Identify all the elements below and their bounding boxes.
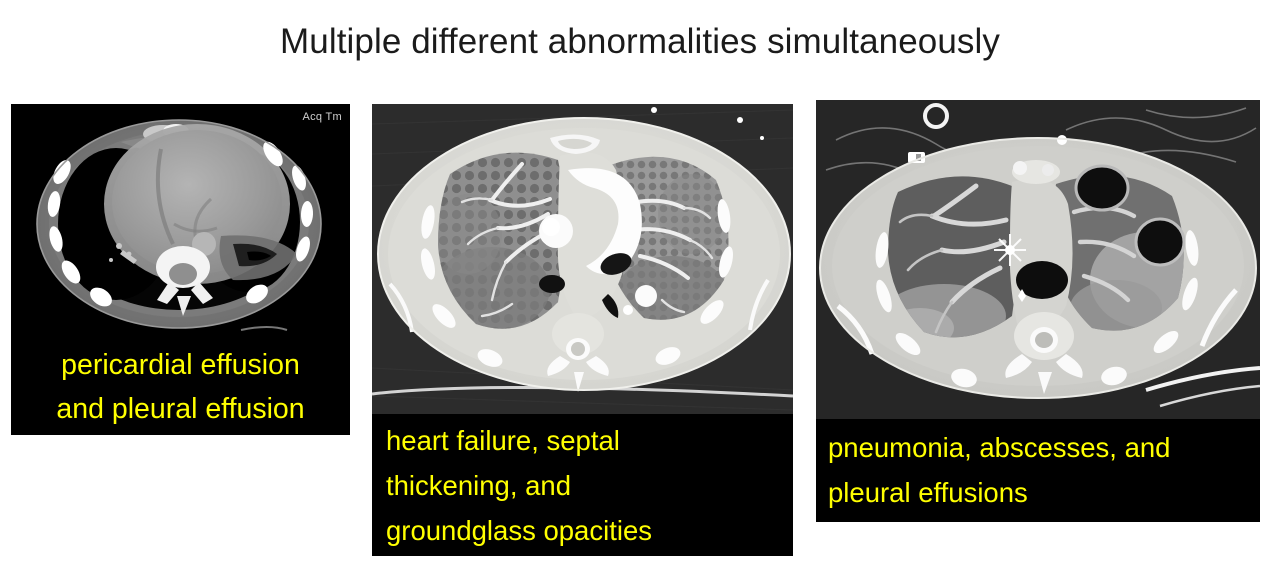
slide: Multiple different abnormalities simulta… xyxy=(0,0,1280,576)
caption-line: groundglass opacities xyxy=(386,508,793,553)
ct-image-mediastinal-window: Acq Tm xyxy=(11,104,350,340)
caption-line: and pleural effusion xyxy=(11,387,350,431)
caption-line: pericardial effusion xyxy=(11,343,350,387)
panel-caption: pneumonia, abscesses, and pleural effusi… xyxy=(816,419,1260,522)
acquisition-time-label: Acq Tm xyxy=(303,111,343,123)
caption-line: pleural effusions xyxy=(828,470,1260,515)
caption-line: heart failure, septal xyxy=(386,418,793,463)
page-title: Multiple different abnormalities simulta… xyxy=(0,22,1280,62)
caption-line: pneumonia, abscesses, and xyxy=(828,425,1260,470)
ct-panel-heart-failure[interactable]: heart failure, septal thickening, and gr… xyxy=(372,104,793,556)
panel-caption: heart failure, septal thickening, and gr… xyxy=(372,414,793,556)
ct-panel-pneumonia-abscesses[interactable]: pneumonia, abscesses, and pleural effusi… xyxy=(816,100,1260,522)
ct-image-lung-window-septal xyxy=(372,104,793,414)
caption-line: thickening, and xyxy=(386,463,793,508)
panel-caption: pericardial effusion and pleural effusio… xyxy=(11,340,350,435)
ct-image-lung-window-abscess xyxy=(816,100,1260,419)
ct-panel-pericardial-effusion[interactable]: Acq Tm pericardial effusion and pleural … xyxy=(11,104,350,435)
